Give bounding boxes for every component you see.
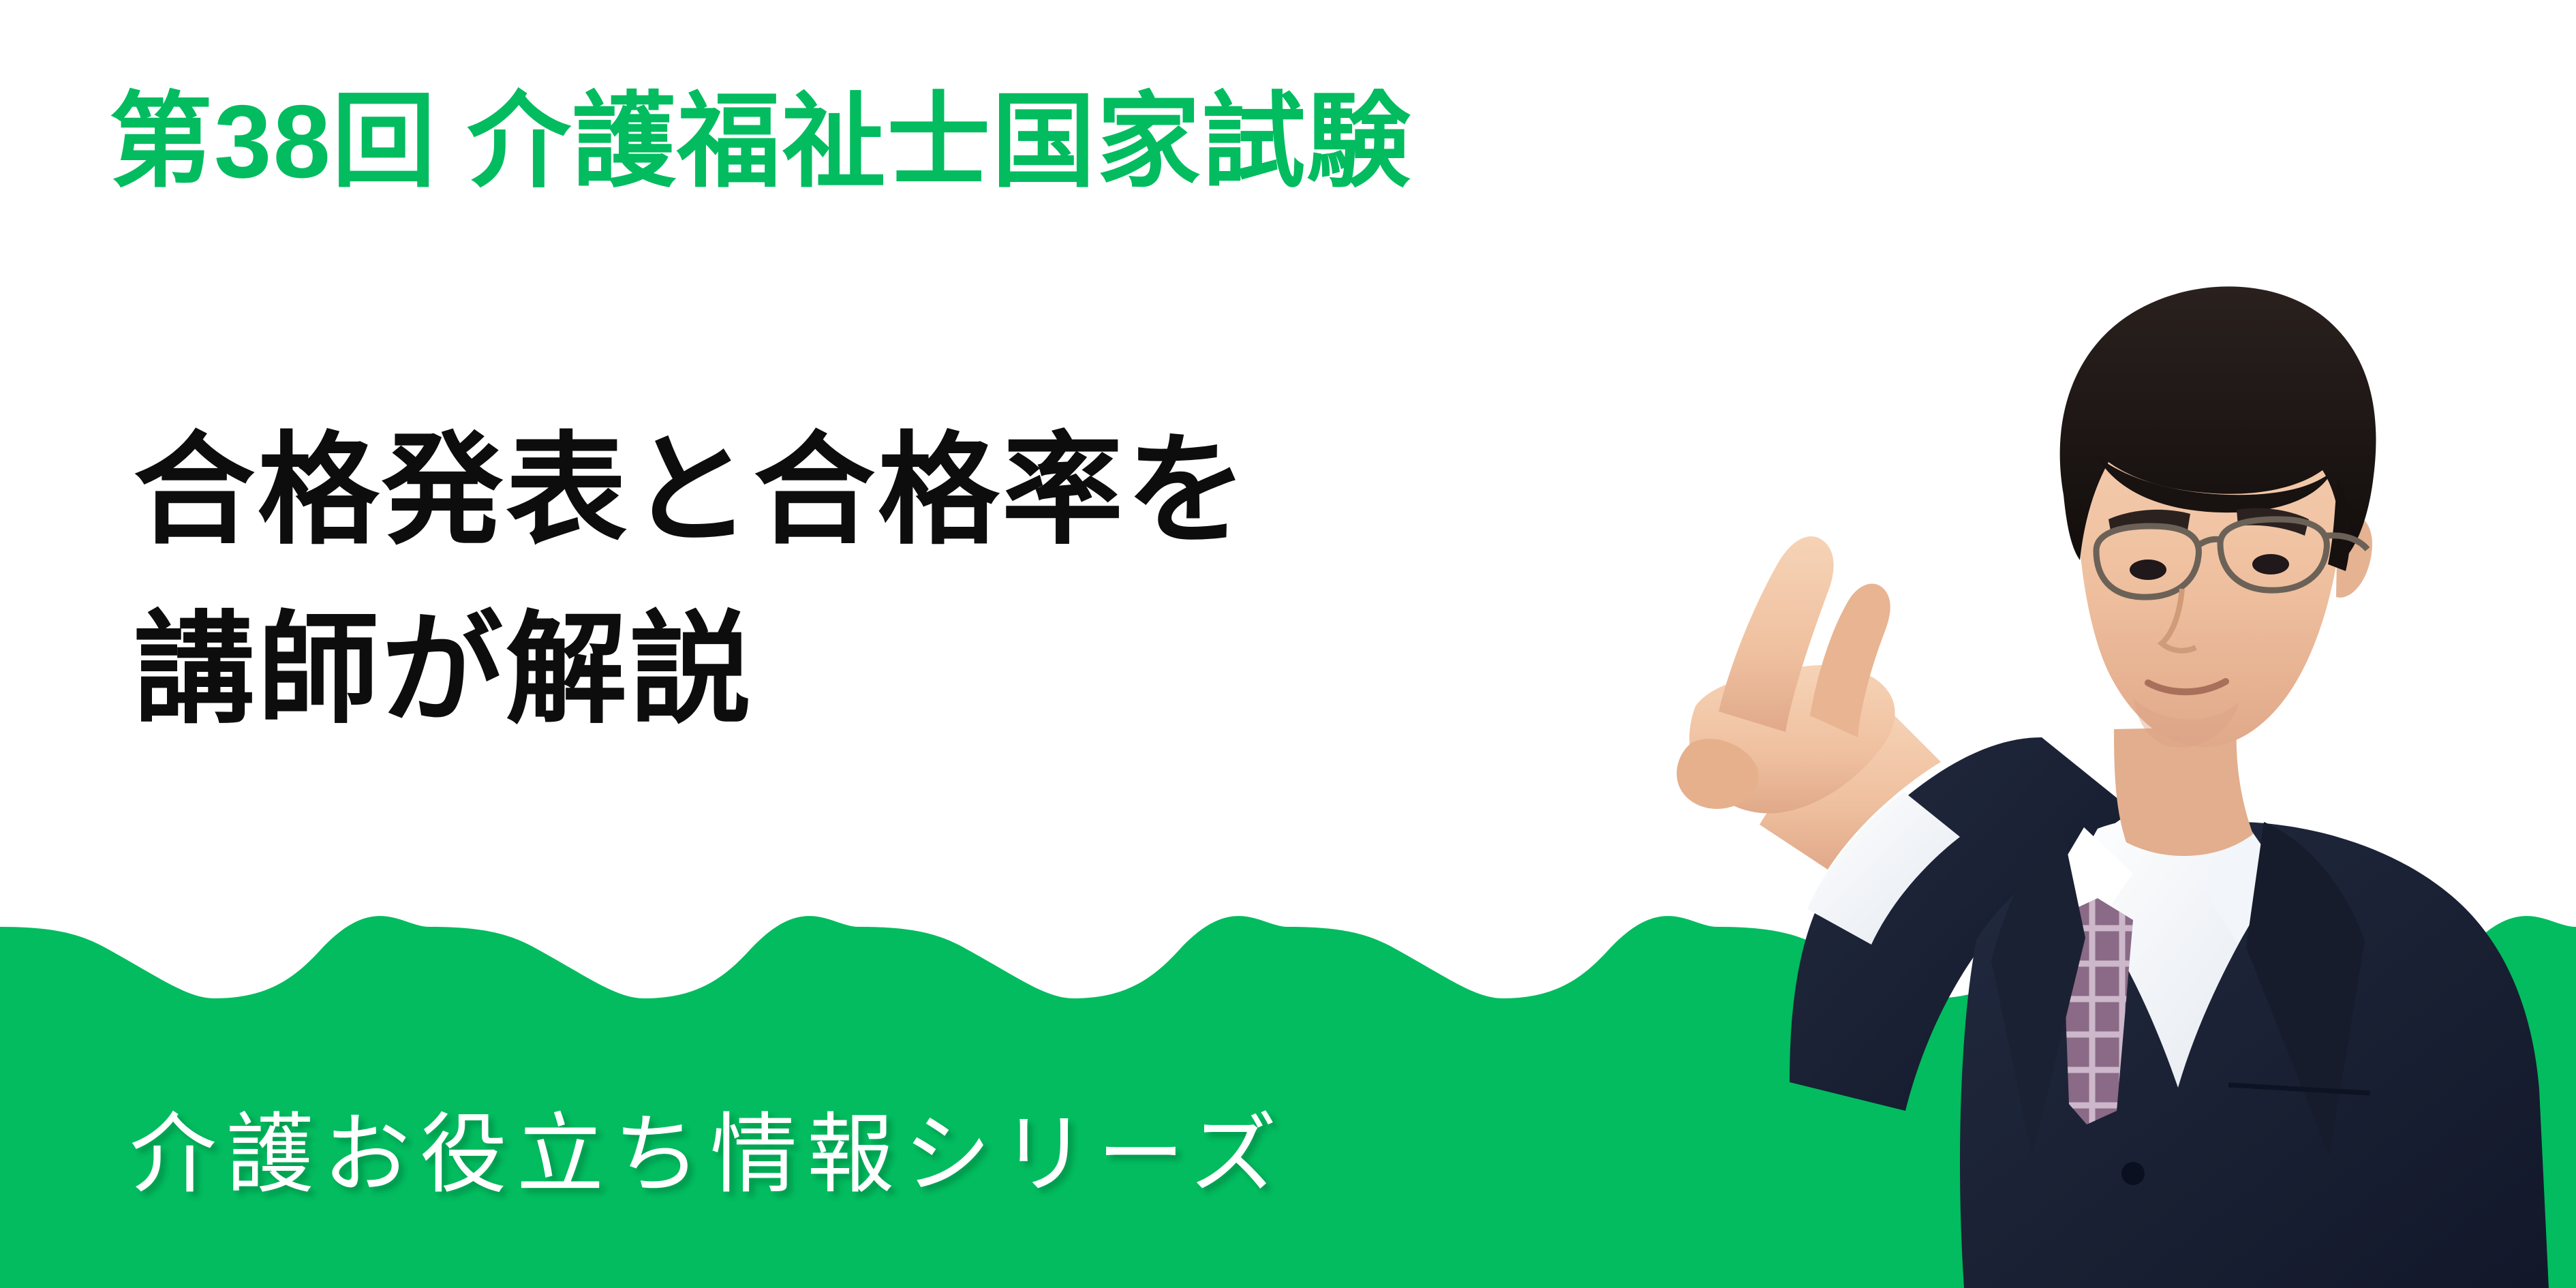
subtitle-line-1: 合格発表と合格率を <box>134 401 1250 580</box>
page-subtitle: 合格発表と合格率を 講師が解説 <box>134 401 1250 760</box>
instructor-photo <box>1656 225 2576 1288</box>
series-label: 介護お役立ち情報シリーズ <box>129 1103 1287 1208</box>
head <box>2060 286 2376 747</box>
suit-jacket <box>1960 815 2549 1288</box>
page-headline: 第38回 介護福祉士国家試験 <box>109 87 1411 197</box>
jacket-button <box>2121 1162 2145 1185</box>
eye-right <box>2252 554 2289 574</box>
subtitle-line-2: 講師が解説 <box>134 580 1250 759</box>
banner-canvas: 第38回 介護福祉士国家試験 合格発表と合格率を 講師が解説 介護お役立ち情報シ… <box>0 0 2576 1288</box>
eye-left <box>2130 559 2166 580</box>
